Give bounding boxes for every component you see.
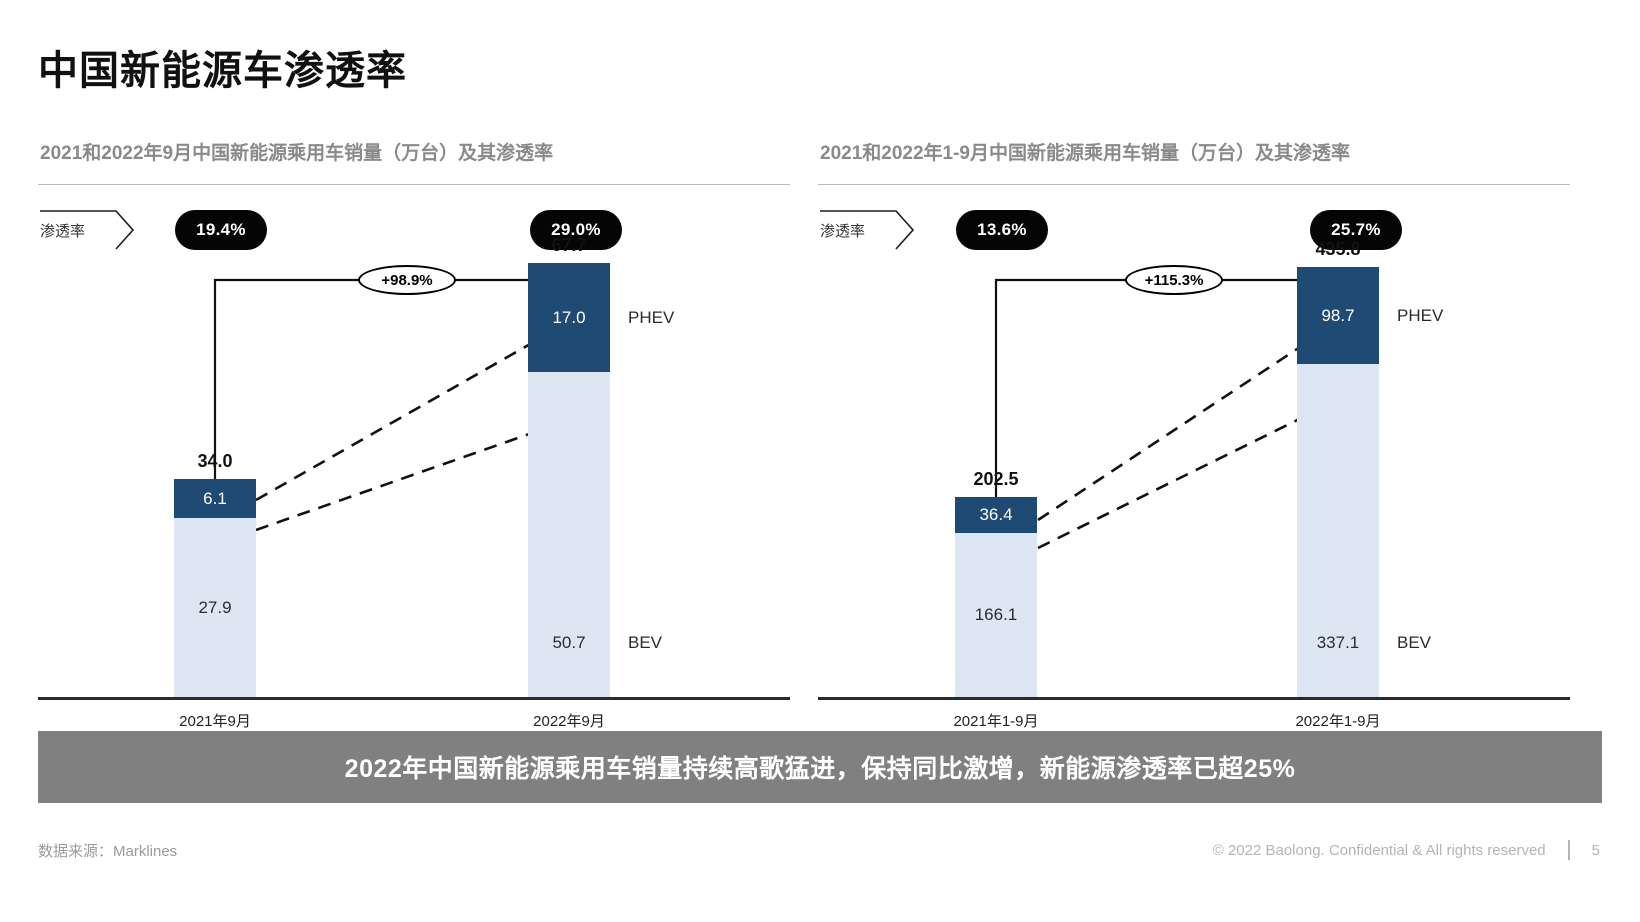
legend-label-bev: BEV [1397, 633, 1431, 653]
x-tick-2022-monthly: 2022年9月 [533, 710, 605, 731]
segment-phev-2021: 6.1 [174, 479, 256, 518]
segment-value-phev: 36.4 [979, 505, 1012, 525]
segment-bev-2021: 166.1 [955, 533, 1037, 697]
chart-subtitle-monthly: 2021和2022年9月中国新能源乘用车销量（万台）及其渗透率 [40, 138, 553, 165]
segment-bev-2022: 337.1 BEV [1297, 364, 1379, 697]
bar-total-label: 202.5 [973, 469, 1018, 490]
x-axis-line [818, 697, 1570, 700]
segment-value-phev: 6.1 [203, 489, 227, 509]
segment-value-phev: 17.0 [552, 308, 585, 328]
bar-2022-cumulative[interactable]: 435.8 98.7 PHEV 337.1 BEV [1297, 267, 1379, 697]
segment-value-bev: 50.7 [552, 633, 585, 653]
plot-area-cumulative: 202.5 36.4 166.1 435.8 98.7 PHEV 337.1 B… [818, 238, 1570, 700]
bar-2022-monthly[interactable]: 67.7 17.0 PHEV 50.7 BEV [528, 263, 610, 697]
chart-panel-cumulative: 2021和2022年1-9月中国新能源乘用车销量（万台）及其渗透率 渗透率 13… [818, 130, 1570, 730]
legend-label-phev: PHEV [1397, 306, 1443, 326]
page-number: 5 [1592, 842, 1600, 859]
bar-total-label: 34.0 [197, 451, 232, 472]
growth-callout-cumulative: +115.3% [1125, 265, 1223, 295]
segment-value-bev: 337.1 [1317, 633, 1360, 653]
segment-value-bev: 27.9 [198, 598, 231, 618]
footer-divider [1568, 840, 1570, 860]
bar-total-label: 435.8 [1315, 239, 1360, 260]
segment-bev-2022: 50.7 BEV [528, 372, 610, 697]
segment-bev-2021: 27.9 [174, 518, 256, 697]
subtitle-divider [818, 184, 1570, 185]
bar-total-label: 67.7 [551, 235, 586, 256]
page-title: 中国新能源车渗透率 [38, 38, 407, 96]
segment-phev-2021: 36.4 [955, 497, 1037, 533]
footer-data-source: 数据来源：Marklines [38, 840, 177, 861]
subtitle-divider [38, 184, 790, 185]
segment-phev-2022: 98.7 PHEV [1297, 267, 1379, 364]
legend-label-phev: PHEV [628, 308, 674, 328]
x-tick-2021-monthly: 2021年9月 [179, 710, 251, 731]
bar-2021-cumulative[interactable]: 202.5 36.4 166.1 [955, 497, 1037, 697]
legend-label-bev: BEV [628, 633, 662, 653]
footer-right: © 2022 Baolong. Confidential & All right… [1213, 840, 1600, 860]
chart-panel-monthly: 2021和2022年9月中国新能源乘用车销量（万台）及其渗透率 渗透率 19.4… [38, 130, 790, 730]
growth-callout-monthly: +98.9% [358, 265, 456, 295]
segment-phev-2022: 17.0 PHEV [528, 263, 610, 372]
x-axis-line [38, 697, 790, 700]
segment-value-bev: 166.1 [975, 605, 1018, 625]
chart-subtitle-cumulative: 2021和2022年1-9月中国新能源乘用车销量（万台）及其渗透率 [820, 138, 1350, 165]
footer-copyright: © 2022 Baolong. Confidential & All right… [1213, 842, 1546, 859]
plot-area-monthly: 34.0 6.1 27.9 67.7 17.0 PHEV 50.7 BEV 20… [38, 238, 790, 700]
x-tick-2021-cumulative: 2021年1-9月 [953, 710, 1038, 731]
bar-2021-monthly[interactable]: 34.0 6.1 27.9 [174, 479, 256, 697]
summary-banner: 2022年中国新能源乘用车销量持续高歌猛进，保持同比激增，新能源渗透率已超25% [38, 731, 1602, 803]
x-tick-2022-cumulative: 2022年1-9月 [1295, 710, 1380, 731]
segment-value-phev: 98.7 [1321, 306, 1354, 326]
